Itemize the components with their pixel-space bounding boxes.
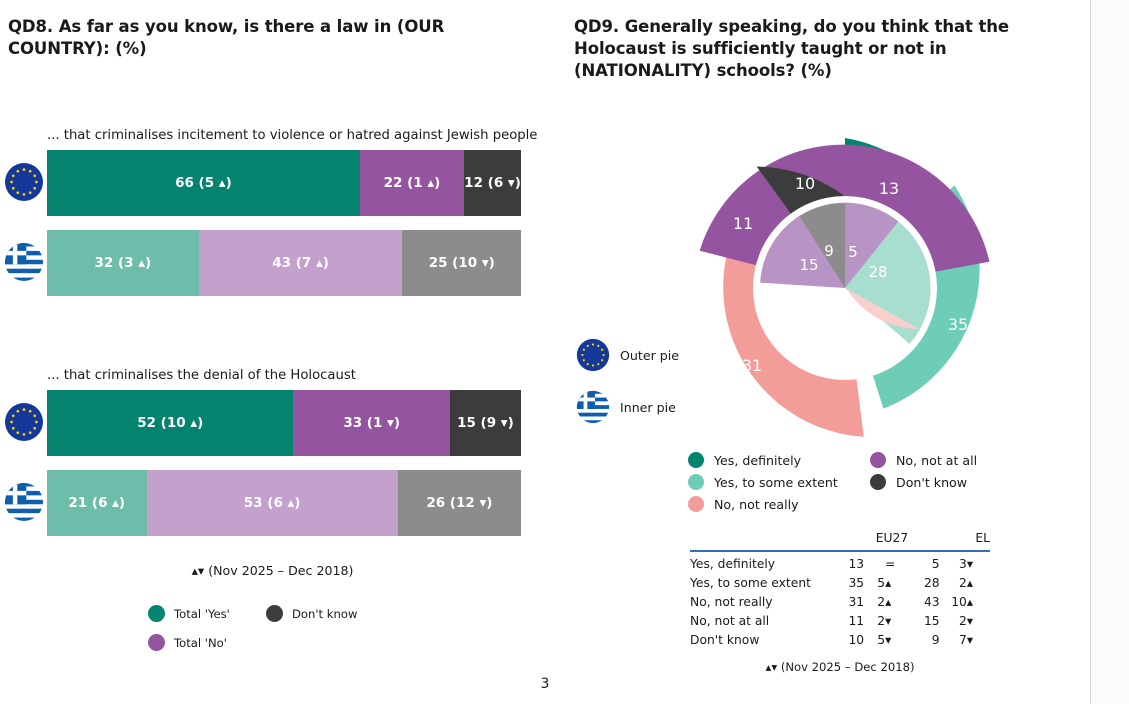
table-cell-el-delta: 7 <box>940 630 967 649</box>
legend-swatch-icon <box>148 605 165 622</box>
table-cell-el-value: 43 <box>908 592 939 611</box>
eu-flag-icon <box>4 162 44 202</box>
pie-flag-legend-label-outer: Outer pie <box>620 348 679 363</box>
table-cell-label: Don't know <box>690 630 837 649</box>
bar-segment-dont-know: 26 (12 ▾) <box>398 470 521 536</box>
legend-swatch-icon <box>688 496 704 512</box>
table-header-rule <box>690 548 990 555</box>
table-cell-eu-arrow-icon: ▴ <box>885 573 908 592</box>
legend-item-no-not-really: No, not really <box>688 496 870 512</box>
bar-segment-total-no: 53 (6 ▴) <box>147 470 398 536</box>
inner-value-5: 5 <box>848 243 858 261</box>
inner-value-15: 15 <box>799 256 818 274</box>
table-cell-eu-value: 11 <box>837 611 864 630</box>
qd9-change-note: ▴▾ (Nov 2025 – Dec 2018) <box>690 660 990 674</box>
greece-flag-icon <box>4 482 44 522</box>
stacked-bar-el: 21 (6 ▴) 53 (6 ▴) 26 (12 ▾) <box>47 470 521 536</box>
greece-flag-icon <box>4 242 44 282</box>
legend-item-dont-know: Don't know <box>870 474 1018 490</box>
table-cell-el-arrow-icon: ▾ <box>967 630 990 649</box>
qd9-data-table: EU27 EL Yes, definitely 13 = 5 3 ▾ <box>690 528 990 649</box>
pie-flag-legend-label-inner: Inner pie <box>620 400 676 415</box>
table-cell-label: No, not at all <box>690 611 837 630</box>
qd8-change-note: ▴▾ (Nov 2025 – Dec 2018) <box>0 563 545 578</box>
stacked-bar-eu27: 66 (5 ▴) 22 (1 ▴) 12 (6 ▾) <box>47 150 521 216</box>
bar-segment-total-yes: 21 (6 ▴) <box>47 470 147 536</box>
table-divider <box>690 550 990 552</box>
legend-item-total-yes: Total 'Yes' <box>148 605 266 622</box>
table-header-row: EU27 EL <box>690 528 990 548</box>
table-cell-eu-arrow-icon: ▴ <box>885 592 908 611</box>
stacked-bar-el: 32 (3 ▴) 43 (7 ▴) 25 (10 ▾) <box>47 230 521 296</box>
legend-item-no-not-at-all: No, not at all <box>870 452 1018 468</box>
legend-swatch-icon <box>870 474 886 490</box>
bar-segment-dont-know: 15 (9 ▾) <box>450 390 521 456</box>
pie-flag-legend-item-inner: Inner pie <box>576 390 679 424</box>
table-row: No, not at all 11 2 ▾ 15 2 ▾ <box>690 611 990 630</box>
table-cell-eu-arrow-icon: = <box>885 554 908 573</box>
report-page: QD8. As far as you know, is there a law … <box>0 0 1129 704</box>
legend-swatch-icon <box>148 634 165 651</box>
pie-flag-legend-item-outer: Outer pie <box>576 338 679 372</box>
page-number: 3 <box>0 676 1090 692</box>
page-edge-divider <box>1090 0 1091 704</box>
outer-value-35: 35 <box>948 315 968 334</box>
inner-value-28: 28 <box>868 263 887 281</box>
table-cell-eu-value: 13 <box>837 554 864 573</box>
table-cell-el-value: 5 <box>908 554 939 573</box>
eu-flag-icon <box>576 338 610 372</box>
legend-item-yes-definitely: Yes, definitely <box>688 452 870 468</box>
table-cell-el-delta: 2 <box>940 573 967 592</box>
table-cell-el-delta: 3 <box>940 554 967 573</box>
table-cell-el-arrow-icon: ▾ <box>967 554 990 573</box>
table-cell-el-value: 15 <box>908 611 939 630</box>
legend-item-yes-some-extent: Yes, to some extent <box>688 474 870 490</box>
table-cell-eu-value: 31 <box>837 592 864 611</box>
table-cell-el-arrow-icon: ▴ <box>967 573 990 592</box>
table-row: Yes, definitely 13 = 5 3 ▾ <box>690 554 990 573</box>
legend-swatch-icon <box>688 452 704 468</box>
bar-segment-total-yes: 66 (5 ▴) <box>47 150 360 216</box>
outer-value-10: 10 <box>795 174 815 193</box>
eu-flag-icon <box>4 402 44 442</box>
qd9-legend: Yes, definitely No, not at all Yes, to s… <box>688 452 1018 512</box>
table-row: Don't know 10 5 ▾ 9 7 ▾ <box>690 630 990 649</box>
table-header-eu27: EU27 <box>837 528 908 548</box>
bar-segment-total-no: 22 (1 ▴) <box>360 150 464 216</box>
table-cell-eu-delta: 5 <box>864 630 885 649</box>
table-cell-el-value: 9 <box>908 630 939 649</box>
bar-segment-dont-know: 12 (6 ▾) <box>464 150 521 216</box>
table-cell-el-arrow-icon: ▾ <box>967 611 990 630</box>
legend-swatch-icon <box>870 452 886 468</box>
bar-segment-dont-know: 25 (10 ▾) <box>402 230 521 296</box>
legend-swatch-icon <box>266 605 283 622</box>
table-body: Yes, definitely 13 = 5 3 ▾ Yes, to some … <box>690 554 990 649</box>
table-cell-eu-value: 10 <box>837 630 864 649</box>
table-header-label <box>690 528 837 548</box>
bar-segment-total-no: 33 (1 ▾) <box>293 390 449 456</box>
greece-flag-icon <box>576 390 610 424</box>
outer-value-13: 13 <box>879 179 899 198</box>
table-cell-eu-arrow-icon: ▾ <box>885 630 908 649</box>
table-cell-eu-delta: 2 <box>864 592 885 611</box>
page-right-gutter <box>1091 0 1129 704</box>
bar-segment-total-yes: 52 (10 ▴) <box>47 390 293 456</box>
qd9-title: QD9. Generally speaking, do you think th… <box>574 16 1044 82</box>
table-cell-eu-arrow-icon: ▾ <box>885 611 908 630</box>
legend-item-dont-know: Don't know <box>266 605 538 622</box>
legend-item-total-no: Total 'No' <box>148 634 266 651</box>
table-cell-eu-delta: 2 <box>864 611 885 630</box>
qd8-section-2-subtitle: ... that criminalises the denial of the … <box>47 368 356 383</box>
legend-swatch-icon <box>688 474 704 490</box>
qd8-section-1-subtitle: ... that criminalises incitement to viol… <box>47 128 537 143</box>
table-cell-el-value: 28 <box>908 573 939 592</box>
inner-value-43: 43 <box>821 308 840 326</box>
table-header-el: EL <box>908 528 990 548</box>
bar-segment-total-yes: 32 (3 ▴) <box>47 230 199 296</box>
stacked-bar-eu27: 52 (10 ▴) 33 (1 ▾) 15 (9 ▾) <box>47 390 521 456</box>
table-cell-eu-delta: 5 <box>864 573 885 592</box>
table-cell-eu-value: 35 <box>837 573 864 592</box>
table-cell-label: Yes, to some extent <box>690 573 837 592</box>
table-row: Yes, to some extent 35 5 ▴ 28 2 ▴ <box>690 573 990 592</box>
table-cell-el-delta: 2 <box>940 611 967 630</box>
table-row: No, not really 31 2 ▴ 43 10 ▴ <box>690 592 990 611</box>
table-cell-el-arrow-icon: ▴ <box>967 592 990 611</box>
qd9-nested-donut-chart: 13 35 31 11 10 5 28 43 15 9 <box>693 136 997 440</box>
qd8-title: QD8. As far as you know, is there a law … <box>8 16 528 60</box>
inner-value-9: 9 <box>824 242 834 260</box>
table-cell-eu-delta <box>864 554 885 573</box>
table-cell-label: No, not really <box>690 592 837 611</box>
table-cell-label: Yes, definitely <box>690 554 837 573</box>
bar-segment-total-no: 43 (7 ▴) <box>199 230 403 296</box>
qd9-pie-flag-legend: Outer pie Inner pie <box>576 338 679 442</box>
outer-value-31: 31 <box>742 356 762 375</box>
qd8-legend: Total 'Yes' Don't know Total 'No' <box>148 605 538 651</box>
table-cell-el-delta: 10 <box>940 592 967 611</box>
outer-value-11: 11 <box>733 214 753 233</box>
